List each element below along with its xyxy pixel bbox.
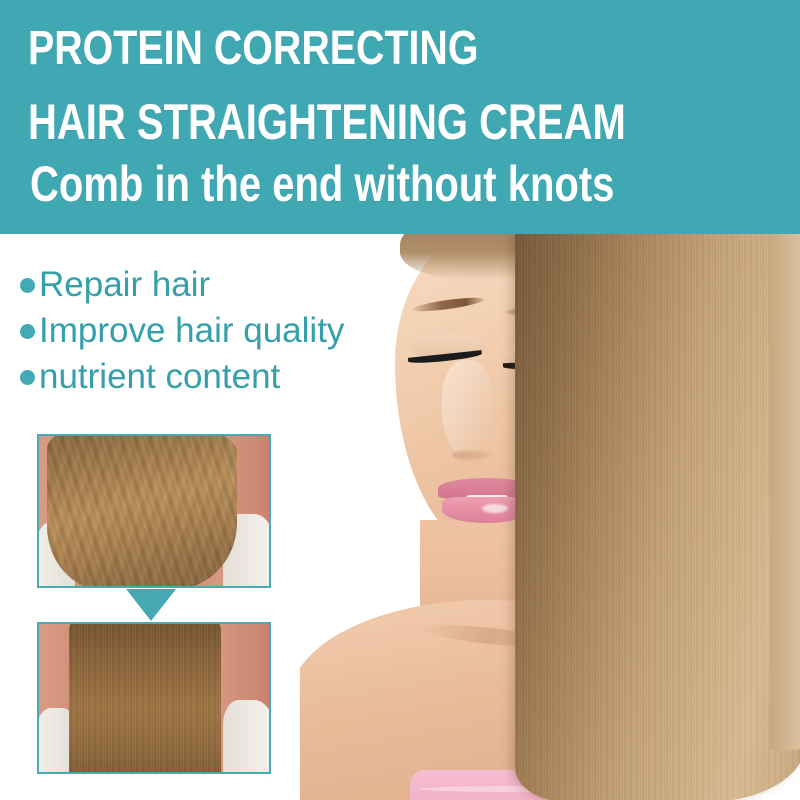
before-photo <box>37 434 271 588</box>
title-line-3: Comb in the end without knots <box>30 158 614 210</box>
title-line-2: HAIR STRAIGHTENING CREAM <box>28 96 626 148</box>
benefit-label-2: Improve hair quality <box>39 311 344 351</box>
hair-right-edge <box>770 230 800 750</box>
nose <box>442 360 494 458</box>
bullet-dot-icon <box>20 370 35 385</box>
product-ad-poster: PROTEIN CORRECTING HAIR STRAIGHTENING CR… <box>0 0 800 800</box>
straight-hair <box>69 622 221 774</box>
frizzy-hair <box>47 434 237 588</box>
benefit-label-3: nutrient content <box>39 357 280 397</box>
header-band: PROTEIN CORRECTING HAIR STRAIGHTENING CR… <box>0 0 800 234</box>
after-photo <box>37 622 271 774</box>
bullet-dot-icon <box>20 278 35 293</box>
benefits-list: Repair hair Improve hair quality nutrien… <box>20 262 440 400</box>
bullet-dot-icon <box>20 324 35 339</box>
model-straight-hair <box>515 230 800 800</box>
title-line-1: PROTEIN CORRECTING <box>28 24 478 74</box>
list-item: Improve hair quality <box>20 308 440 354</box>
after-shoulder-right <box>223 700 271 774</box>
benefit-label-1: Repair hair <box>39 265 210 305</box>
list-item: nutrient content <box>20 354 440 400</box>
list-item: Repair hair <box>20 262 440 308</box>
arrow-down-icon <box>126 589 176 621</box>
nostril <box>452 448 496 462</box>
